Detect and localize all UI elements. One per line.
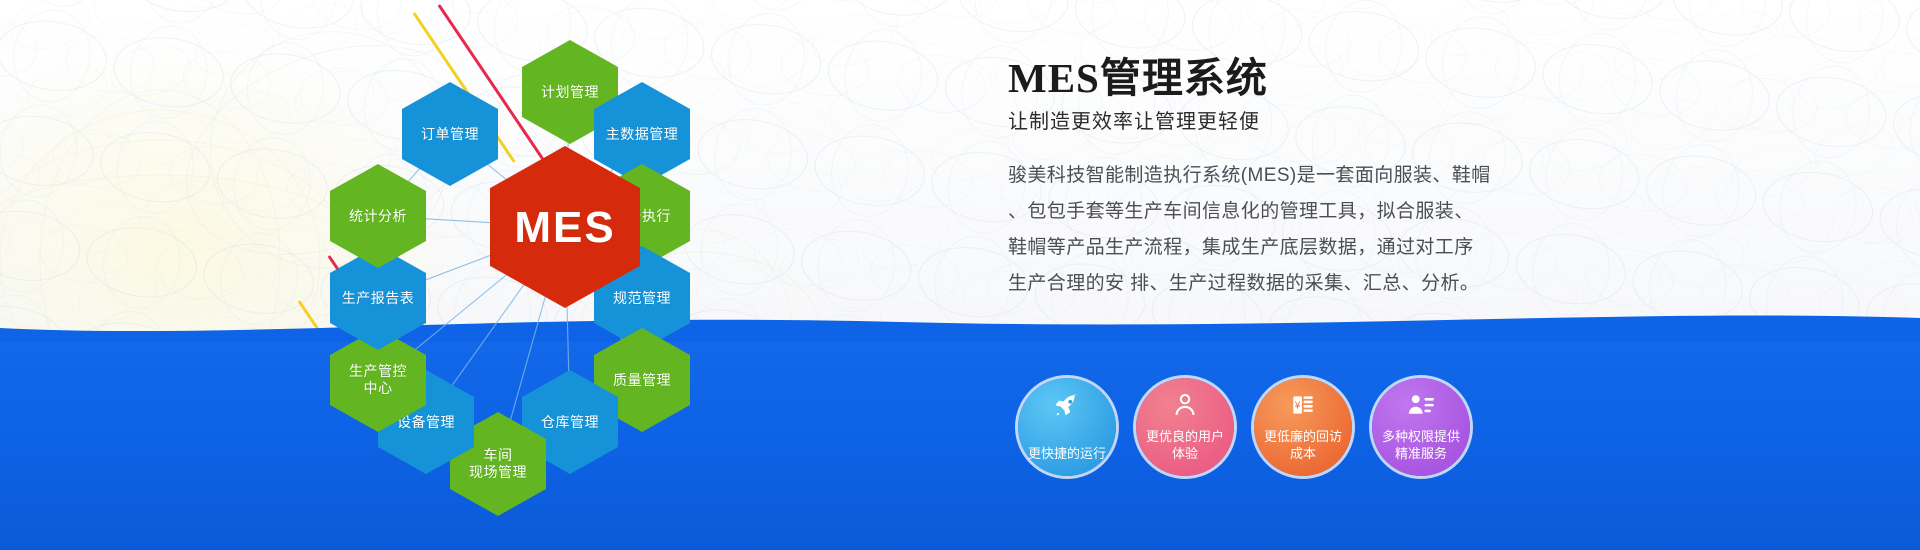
feature-caption-line-2: 成本	[1264, 445, 1342, 462]
paragraph-line: 鞋帽等产品生产流程，集成生产底层数据，通过对工序	[1008, 230, 1608, 266]
money-stack-icon: ¥	[1288, 390, 1318, 420]
mes-hex-diagram: 计划管理主数据管理生产执行规范管理质量管理仓库管理车间现场管理设备管理生产管控中…	[330, 22, 800, 442]
bottom-blue-band	[0, 342, 1920, 550]
feature-circle-caption: 更快捷的运行	[1022, 445, 1112, 462]
hex-node-label: 仓库管理	[535, 414, 605, 431]
hex-node-label: 质量管理	[607, 372, 677, 389]
user-icon	[1170, 390, 1200, 420]
hex-node-label: 统计分析	[343, 208, 413, 225]
page-subtitle: 让制造更效率让管理更轻便	[1008, 108, 1608, 136]
feature-circle-3[interactable]: ¥更低廉的回访成本	[1254, 378, 1352, 476]
hex-node-label: 生产管控中心	[343, 363, 413, 397]
feature-circle-caption: 多种权限提供精准服务	[1376, 428, 1466, 462]
paragraph-line: 骏美科技智能制造执行系统(MES)是一套面向服装、鞋帽	[1008, 158, 1608, 194]
feature-circle-1[interactable]: 更快捷的运行	[1018, 378, 1116, 476]
feature-caption-line-1: 更优良的用户	[1146, 428, 1224, 445]
feature-caption-line-1: 更快捷的运行	[1028, 445, 1106, 462]
paragraph-line: 、包包手套等生产车间信息化的管理工具，拟合服装、	[1008, 194, 1608, 230]
page-title: MES管理系统	[1008, 52, 1608, 104]
hex-node-label: 规范管理	[607, 290, 677, 307]
feature-caption-line-2: 体验	[1146, 445, 1224, 462]
feature-circle-caption: 更优良的用户体验	[1140, 428, 1230, 462]
user-list-icon	[1406, 390, 1436, 420]
hex-node-11[interactable]: 统计分析	[330, 164, 426, 268]
hex-node-label: 生产报告表	[336, 290, 421, 307]
hex-node-label: 计划管理	[535, 84, 605, 101]
feature-circle-list: 更快捷的运行更优良的用户体验¥更低廉的回访成本多种权限提供精准服务	[1018, 378, 1470, 476]
feature-caption-line-1: 多种权限提供	[1382, 428, 1460, 445]
hex-node-label: 主数据管理	[600, 126, 685, 143]
feature-caption-line-2: 精准服务	[1382, 445, 1460, 462]
feature-circle-4[interactable]: 多种权限提供精准服务	[1372, 378, 1470, 476]
rocket-icon	[1052, 390, 1082, 420]
hero-text-block: MES管理系统 让制造更效率让管理更轻便 骏美科技智能制造执行系统(MES)是一…	[1008, 52, 1608, 302]
feature-circle-caption: 更低廉的回访成本	[1258, 428, 1348, 462]
hex-node-12[interactable]: 订单管理	[402, 82, 498, 186]
feature-circle-2[interactable]: 更优良的用户体验	[1136, 378, 1234, 476]
banner-stage: 计划管理主数据管理生产执行规范管理质量管理仓库管理车间现场管理设备管理生产管控中…	[0, 0, 1920, 550]
svg-text:¥: ¥	[1294, 400, 1301, 411]
hex-center-label: MES	[508, 219, 621, 236]
paragraph-line: 生产合理的安 排、生产过程数据的采集、汇总、分析。	[1008, 266, 1608, 302]
feature-caption-line-1: 更低廉的回访	[1264, 428, 1342, 445]
hex-node-label: 车间现场管理	[463, 447, 533, 481]
hex-node-label: 订单管理	[415, 126, 485, 143]
hero-paragraph: 骏美科技智能制造执行系统(MES)是一套面向服装、鞋帽、包包手套等生产车间信息化…	[1008, 158, 1608, 302]
